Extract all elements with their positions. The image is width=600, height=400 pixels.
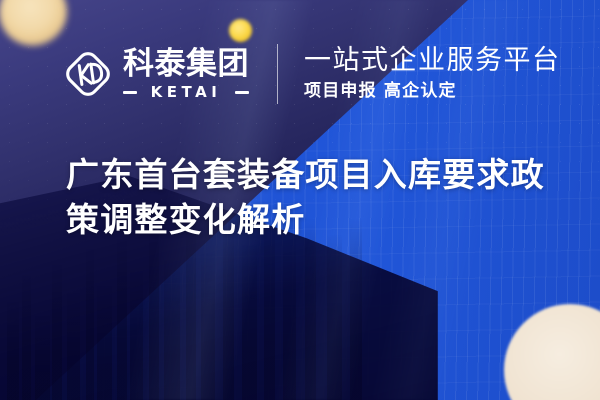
brand-logo[interactable]: 科泰集团 KETAI bbox=[62, 48, 249, 100]
gold-dot-orb bbox=[229, 19, 252, 42]
ketai-diamond-kd-logo-icon bbox=[62, 48, 114, 100]
city-skyline-silhouette bbox=[0, 216, 372, 400]
brand-name-cn: 科泰集团 bbox=[123, 49, 249, 80]
brand-header: 科泰集团 KETAI 一站式企业服务平台 项目申报 高企认定 bbox=[62, 44, 561, 104]
brand-name-en-row: KETAI bbox=[123, 85, 249, 100]
page-title: 广东首台套装备项目入库要求政策调整变化解析 bbox=[66, 152, 556, 242]
tagline-primary: 一站式企业服务平台 bbox=[304, 47, 561, 75]
tagline-secondary: 项目申报 高企认定 bbox=[304, 83, 561, 101]
promo-banner: 科泰集团 KETAI 一站式企业服务平台 项目申报 高企认定 广东首台套装备项目… bbox=[0, 0, 600, 400]
vertical-divider bbox=[277, 44, 278, 104]
dash-left-icon bbox=[123, 91, 137, 94]
brand-wordmark: 科泰集团 KETAI bbox=[123, 49, 249, 100]
brand-name-en: KETAI bbox=[142, 85, 230, 100]
tagline-block: 一站式企业服务平台 项目申报 高企认定 bbox=[304, 47, 561, 100]
dash-right-icon bbox=[235, 91, 249, 94]
